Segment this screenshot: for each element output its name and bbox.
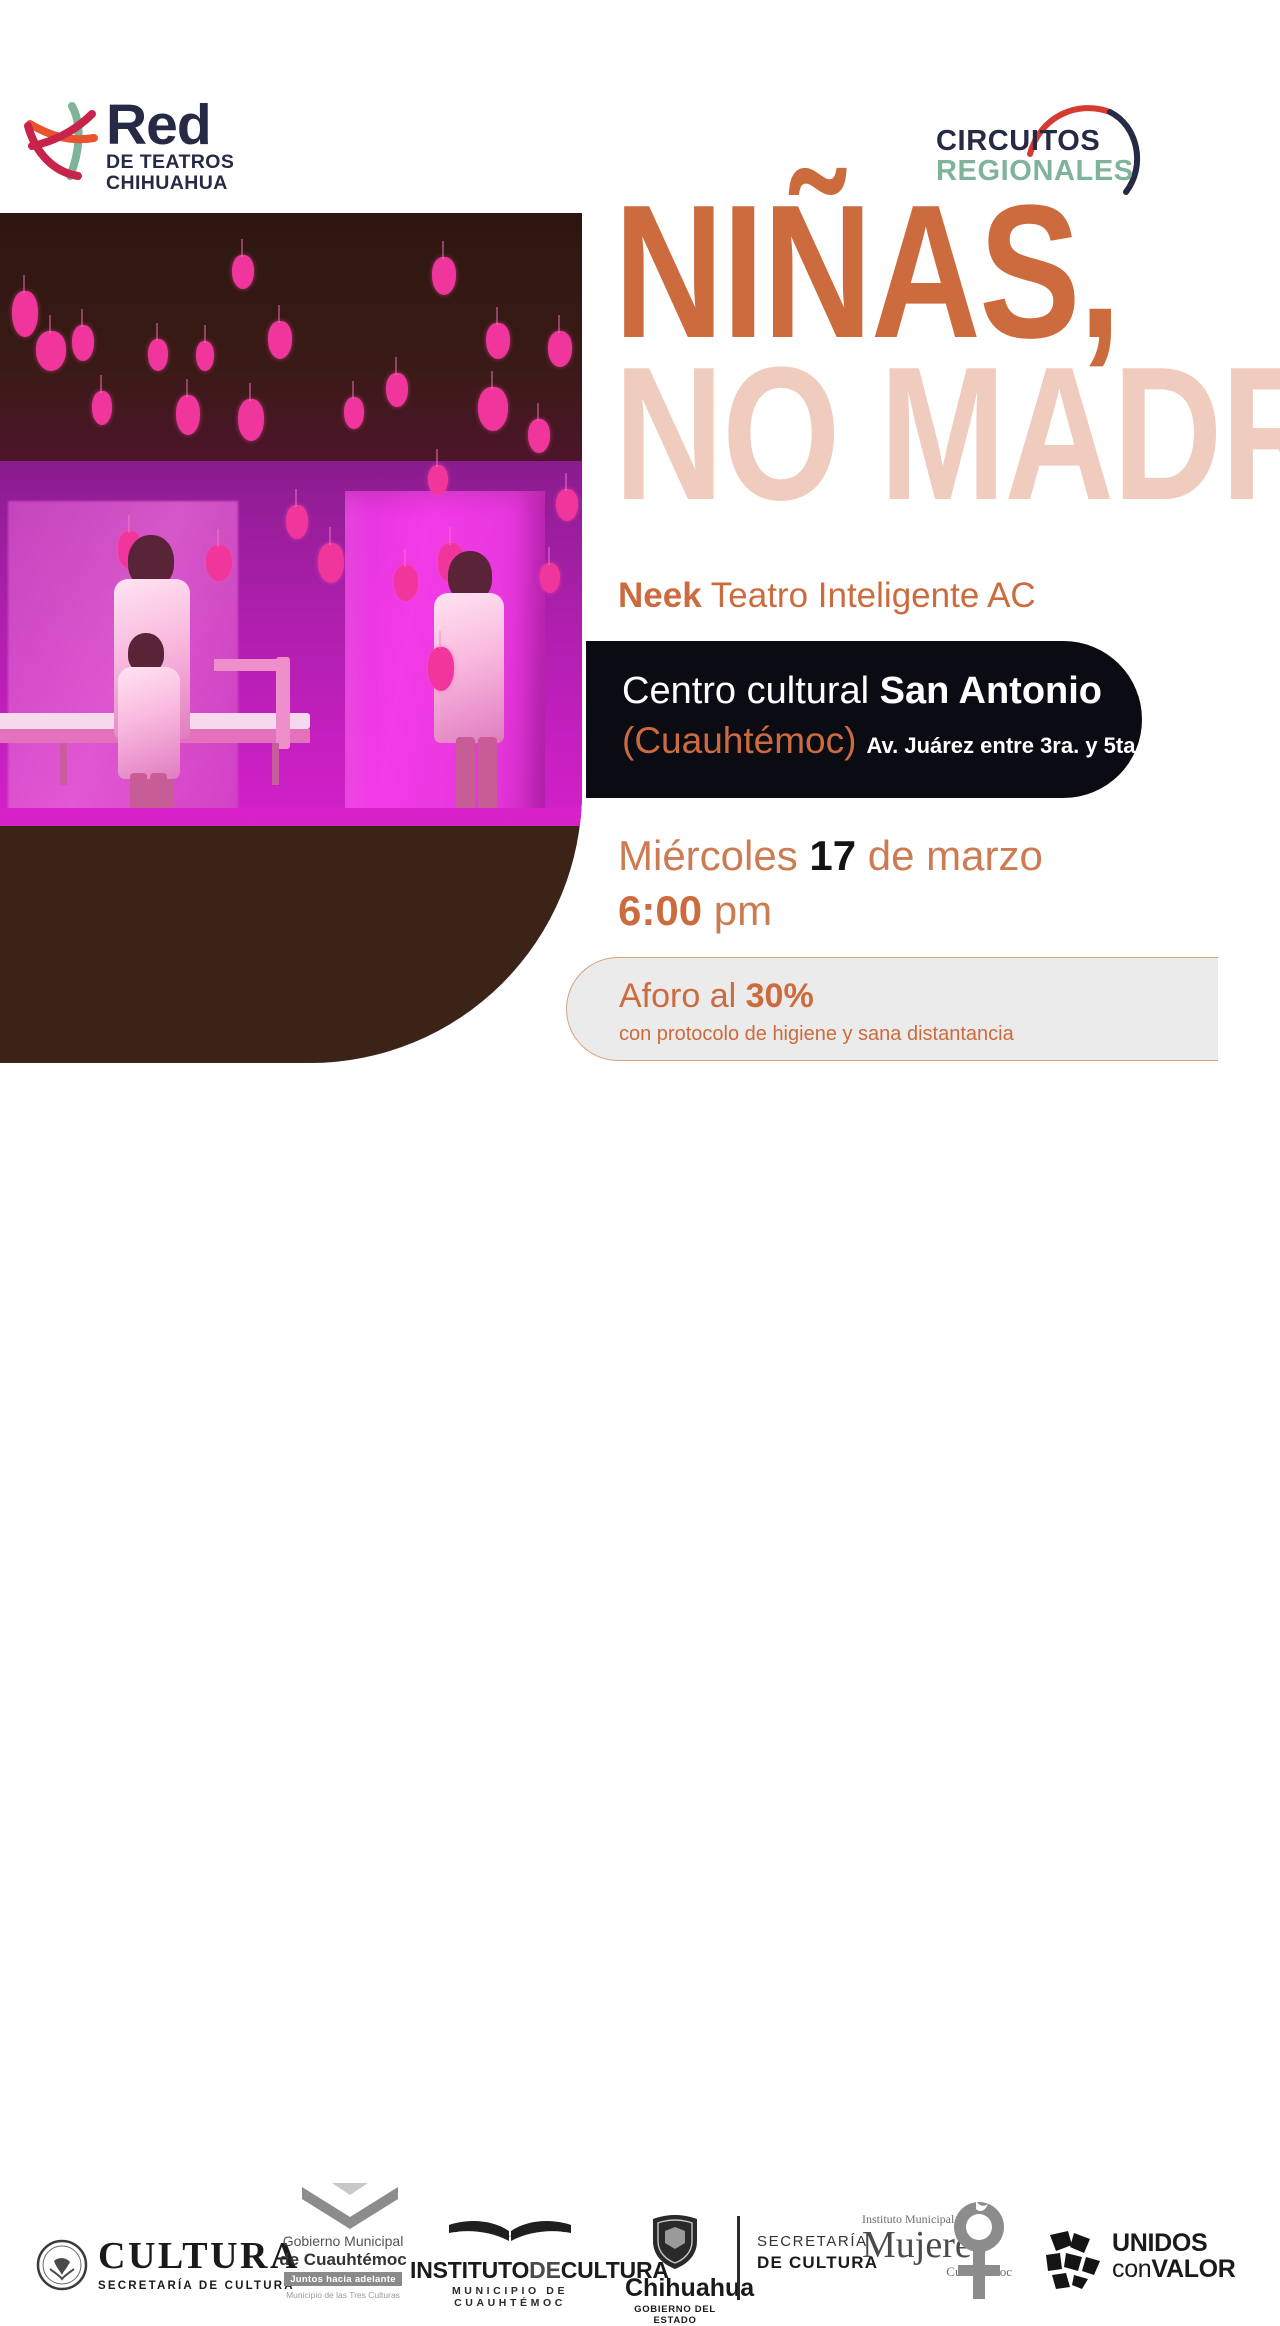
hanging-doll — [386, 373, 408, 407]
footer-logos: CULTURA SECRETARÍA DE CULTURA Gobierno M… — [0, 1085, 1280, 1280]
company-name: Neek — [618, 576, 702, 615]
instituto-word-1: INSTITUTO — [410, 2257, 529, 2283]
footer-logo-secretaria-cultura: SECRETARÍA DE CULTURA — [757, 2233, 878, 2273]
red-logo-name: Red — [106, 98, 234, 152]
stage-floor — [0, 808, 582, 826]
hanging-doll — [206, 545, 232, 581]
red-wordmark: Red DE TEATROS CHIHUAHUA — [106, 98, 234, 194]
hospital-bed-leg — [60, 743, 67, 785]
state-fragments-icon — [1040, 2227, 1104, 2291]
held-doll — [428, 647, 454, 691]
hanging-doll — [286, 505, 308, 539]
capacity-prefix: Aforo al — [619, 977, 746, 1015]
footer-divider — [737, 2216, 740, 2300]
hanging-doll — [196, 341, 214, 371]
chihuahua-subtitle: GOBIERNO DEL ESTADO — [625, 2304, 725, 2326]
footer-logo-gobierno-municipal: Gobierno Municipal de Cuauhtémoc Juntos … — [278, 2183, 408, 2300]
venue-municipality: (Cuauhtémoc) — [622, 720, 856, 761]
stage-scene — [0, 213, 582, 826]
hanging-doll — [176, 395, 200, 435]
secretaria-line-2: DE CULTURA — [757, 2252, 878, 2273]
gm-slogan-band: Juntos hacia adelante — [284, 2272, 402, 2286]
performer-leg — [456, 737, 475, 817]
footer-logo-mujeres: Instituto Municipal de las Mujeres Cuauh… — [862, 2213, 1012, 2278]
hanging-doll — [344, 397, 364, 429]
event-day: 17 — [809, 832, 856, 879]
capacity-notice: Aforo al 30% con protocolo de higiene y … — [566, 957, 1218, 1061]
gm-line-1: Gobierno Municipal — [278, 2234, 408, 2250]
venus-symbol-icon — [946, 2197, 1012, 2301]
footer-logo-instituto-cultura: INSTITUTODECULTURA MUNICIPIO DE CUAUHTÉM… — [410, 2217, 610, 2309]
hanging-doll — [148, 339, 168, 371]
event-time-value: 6:00 — [618, 887, 702, 934]
cultura-wordmark: CULTURA — [98, 2237, 300, 2275]
title-line-1: NIÑAS, — [614, 196, 1062, 348]
event-datetime: Miércoles 17 de marzo 6:00 pm — [618, 828, 1043, 939]
performer-gown — [118, 667, 180, 779]
company-descriptor: Teatro Inteligente AC — [702, 576, 1036, 615]
capacity-note: con protocolo de higiene y sana distanta… — [619, 1020, 1014, 1048]
chihuahua-wordmark: Chihuahua — [625, 2276, 725, 2301]
venue-content: Centro cultural San Antonio (Cuauhtémoc)… — [622, 668, 1142, 764]
open-book-icon — [445, 2217, 575, 2253]
company-credit: Neek Teatro Inteligente AC — [618, 576, 1036, 616]
hospital-bed-leg — [272, 743, 279, 785]
event-weekday: Miércoles — [618, 832, 809, 879]
venue-panel: Centro cultural San Antonio (Cuauhtémoc)… — [586, 641, 1142, 798]
hanging-doll — [72, 325, 94, 361]
instituto-wordmark: INSTITUTODECULTURA — [410, 2258, 610, 2282]
unidos-line-2: conVALOR — [1112, 2257, 1236, 2283]
venue-address: Av. Juárez entre 3ra. y 5ta. — [866, 733, 1141, 758]
hanging-doll — [232, 255, 254, 289]
hanging-doll — [36, 331, 66, 371]
unidos-valor: VALOR — [1151, 2255, 1235, 2283]
red-ribbon-icon — [22, 102, 100, 182]
hanging-doll — [268, 321, 292, 359]
hanging-doll — [432, 257, 456, 295]
instituto-word-2: DE — [529, 2257, 561, 2283]
event-time: 6:00 pm — [618, 883, 1043, 938]
venue-prefix: Centro cultural — [622, 670, 880, 712]
venue-name: San Antonio — [880, 670, 1102, 712]
unidos-line-1: UNIDOS — [1112, 2231, 1236, 2257]
event-month: de marzo — [856, 832, 1043, 879]
gm-line-2: de Cuauhtémoc — [278, 2250, 408, 2269]
secretaria-line-1: SECRETARÍA — [757, 2233, 878, 2252]
hanging-doll — [238, 399, 264, 441]
capacity-percent: 30% — [746, 977, 814, 1015]
mexico-eagle-seal-icon — [36, 2239, 88, 2291]
cultura-subtitle: SECRETARÍA DE CULTURA — [98, 2280, 300, 2292]
hanging-doll — [528, 419, 550, 453]
performer-child — [118, 633, 190, 823]
title-line-2: NO MADRES — [614, 358, 1062, 510]
venue-line-1: Centro cultural San Antonio — [622, 668, 1142, 716]
circuitos-line1: CIRCUITOS — [936, 126, 1134, 156]
hanging-doll — [12, 291, 38, 337]
hanging-doll — [556, 489, 578, 521]
capacity-headline: Aforo al 30% — [619, 974, 1014, 1018]
hospital-bed-rail — [214, 659, 284, 671]
hanging-doll — [394, 565, 418, 601]
chevron-mark-icon — [298, 2183, 402, 2229]
hanging-doll — [92, 391, 112, 425]
footer-logo-chihuahua: Chihuahua GOBIERNO DEL ESTADO — [625, 2213, 725, 2326]
hanging-doll — [478, 387, 508, 431]
capacity-content: Aforo al 30% con protocolo de higiene y … — [619, 974, 1014, 1048]
red-logo-line3: CHIHUAHUA — [106, 173, 234, 194]
hanging-doll — [548, 331, 572, 367]
red-logo-line2: DE TEATROS — [106, 152, 234, 173]
event-date: Miércoles 17 de marzo — [618, 828, 1043, 883]
poster-title: NIÑAS, NO MADRES — [614, 196, 1174, 510]
hanging-doll — [318, 543, 344, 583]
unidos-con: con — [1112, 2255, 1151, 2283]
theatre-production-photo — [0, 213, 582, 1063]
gm-line-4: Municipio de las Tres Culturas — [278, 2290, 408, 2300]
event-meridiem: pm — [702, 887, 772, 934]
hanging-doll — [428, 465, 448, 495]
hanging-doll — [486, 323, 510, 359]
chihuahua-shield-icon — [649, 2213, 701, 2271]
instituto-subtitle: MUNICIPIO DE CUAUHTÉMOC — [410, 2285, 610, 2309]
performer-leg — [478, 737, 497, 817]
performer-right — [430, 551, 516, 819]
red-de-teatros-logo: Red DE TEATROS CHIHUAHUA — [22, 98, 252, 193]
venue-line-2: (Cuauhtémoc)Av. Juárez entre 3ra. y 5ta. — [622, 718, 1142, 764]
hanging-doll — [540, 563, 560, 593]
